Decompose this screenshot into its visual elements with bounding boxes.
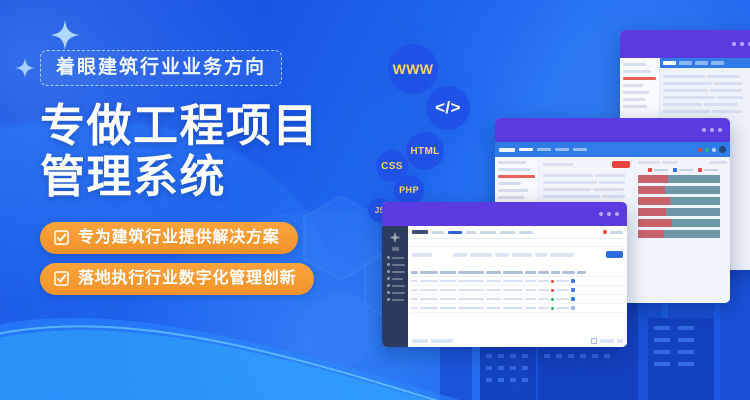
nav-tab[interactable] bbox=[573, 148, 587, 151]
table-row bbox=[663, 94, 750, 101]
chart-bar bbox=[638, 175, 727, 183]
nav-tab[interactable] bbox=[519, 231, 533, 234]
app-logo bbox=[412, 230, 428, 234]
query-button[interactable] bbox=[606, 251, 623, 258]
feature-pill-2[interactable]: 落地执行行业数字化管理创新 bbox=[40, 263, 314, 295]
breadcrumb bbox=[408, 239, 627, 247]
feature-pill-2-label: 落地执行行业数字化管理创新 bbox=[78, 269, 296, 289]
dashboard-mockup-front bbox=[382, 202, 627, 347]
page-title: 专做工程项目 管理系统 bbox=[40, 101, 340, 203]
table-row bbox=[663, 73, 750, 80]
chart-bar bbox=[638, 186, 727, 194]
nav-tab[interactable] bbox=[480, 231, 496, 234]
chart-bar bbox=[638, 219, 727, 227]
sparkle-icon bbox=[15, 58, 35, 78]
mockup-topbar bbox=[408, 226, 627, 239]
table-row bbox=[543, 179, 630, 186]
tech-bubble-cluster: WWW </> HTML CSS PHP JS 0 bbox=[372, 28, 502, 218]
checkbox-checked-icon bbox=[54, 230, 69, 245]
table-row bbox=[411, 304, 624, 313]
headline-line-1: 专做工程项目 bbox=[40, 101, 340, 152]
sidebar-subtitle bbox=[392, 247, 399, 251]
nav-tab[interactable] bbox=[432, 231, 444, 234]
app-logo-icon bbox=[390, 232, 401, 243]
nav-tab[interactable] bbox=[537, 148, 551, 151]
table-row bbox=[543, 186, 630, 193]
mockup-table bbox=[408, 268, 627, 335]
window-controls bbox=[732, 42, 750, 46]
chart-bar bbox=[638, 230, 727, 238]
window-titlebar bbox=[382, 202, 627, 226]
table-row bbox=[411, 295, 624, 304]
settings-icon[interactable] bbox=[712, 148, 716, 152]
sidebar-item bbox=[385, 256, 405, 259]
subtitle-badge: 着眼建筑行业业务方向 bbox=[40, 50, 282, 86]
nav-tab[interactable] bbox=[500, 231, 515, 234]
sidebar-item bbox=[385, 284, 405, 287]
feature-list: 专为建筑行业提供解决方案 落地执行行业数字化管理创新 bbox=[40, 222, 340, 295]
mockup-table bbox=[663, 73, 750, 115]
sidebar-item bbox=[385, 298, 405, 301]
nav-tab[interactable] bbox=[519, 148, 533, 151]
bubble-php: PHP bbox=[394, 175, 424, 205]
sidebar-item bbox=[385, 291, 405, 294]
chart-legend bbox=[638, 168, 727, 172]
nav-tab[interactable] bbox=[466, 231, 476, 234]
promo-banner: 着眼建筑行业业务方向 专做工程项目 管理系统 专为建筑行业提供解决方案 落地执行… bbox=[0, 0, 750, 400]
window-titlebar bbox=[620, 30, 750, 58]
mockup-chart-pane bbox=[634, 157, 730, 303]
status-icon bbox=[705, 148, 709, 152]
filter-bar bbox=[408, 247, 627, 262]
nav-tab[interactable] bbox=[555, 148, 569, 151]
table-row bbox=[663, 108, 750, 115]
headline-block: 着眼建筑行业业务方向 专做工程项目 管理系统 专为建筑行业提供解决方案 落地执行… bbox=[40, 50, 340, 304]
mockup-topbar bbox=[495, 142, 730, 157]
mockup-sidebar bbox=[382, 226, 408, 347]
checkbox-checked-icon bbox=[54, 271, 69, 286]
sidebar-item bbox=[385, 277, 405, 280]
mockup-body bbox=[382, 226, 627, 347]
table-row bbox=[663, 87, 750, 94]
table-row bbox=[663, 101, 750, 108]
subtitle-text: 着眼建筑行业业务方向 bbox=[56, 58, 266, 77]
sidebar-item bbox=[385, 263, 405, 266]
nav-tab-active[interactable] bbox=[448, 231, 462, 234]
avatar[interactable] bbox=[719, 146, 726, 153]
chart-bar bbox=[638, 208, 727, 216]
bubble-www: WWW bbox=[388, 44, 438, 94]
app-logo bbox=[499, 148, 515, 152]
chart-bar bbox=[638, 197, 727, 205]
user-menu[interactable] bbox=[610, 231, 623, 234]
table-row bbox=[543, 193, 630, 200]
window-titlebar bbox=[495, 118, 730, 142]
mockup-tabbar bbox=[660, 58, 750, 68]
window-controls bbox=[702, 128, 722, 132]
notification-badge-icon[interactable] bbox=[603, 230, 607, 234]
window-controls bbox=[599, 212, 619, 216]
table-header-row bbox=[411, 268, 624, 277]
notification-badge-icon[interactable] bbox=[698, 148, 702, 152]
table-row bbox=[411, 277, 624, 286]
bubble-html: HTML bbox=[406, 132, 444, 170]
pagination-bar bbox=[408, 335, 627, 347]
feature-pill-1-label: 专为建筑行业提供解决方案 bbox=[78, 228, 280, 248]
table-row bbox=[411, 286, 624, 295]
table-row bbox=[543, 172, 630, 179]
sparkle-icon bbox=[50, 20, 80, 50]
feature-pill-1[interactable]: 专为建筑行业提供解决方案 bbox=[40, 222, 298, 254]
sidebar-item bbox=[385, 270, 405, 273]
headline-line-2: 管理系统 bbox=[40, 152, 340, 203]
search-button[interactable] bbox=[612, 161, 630, 168]
table-row bbox=[663, 80, 750, 87]
bubble-code: </> bbox=[426, 86, 470, 130]
mockup-content bbox=[408, 226, 627, 347]
page-prev[interactable] bbox=[591, 338, 597, 344]
